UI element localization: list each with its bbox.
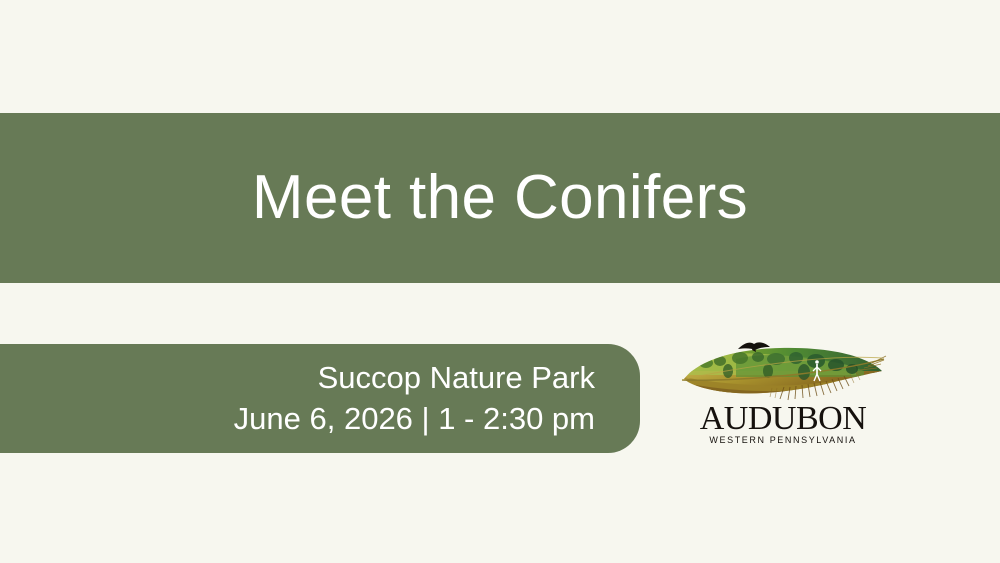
logo-wordmark: AUDUBON WESTERN PENNSYLVANIA (676, 397, 890, 451)
title-band: Meet the Conifers (0, 113, 1000, 283)
event-details-block: Succop Nature Park June 6, 2026 | 1 - 2:… (0, 344, 640, 453)
logo-chapter-text: WESTERN PENNSYLVANIA (709, 435, 856, 445)
event-datetime: June 6, 2026 | 1 - 2:30 pm (234, 399, 595, 439)
audubon-logo: AUDUBON WESTERN PENNSYLVANIA (676, 341, 890, 451)
page-title: Meet the Conifers (252, 167, 748, 229)
event-location: Succop Nature Park (318, 358, 595, 398)
feather-landscape-icon (676, 341, 890, 403)
event-flyer: Meet the Conifers Succop Nature Park Jun… (0, 0, 1000, 563)
logo-organization-text: AUDUBON (700, 400, 867, 437)
